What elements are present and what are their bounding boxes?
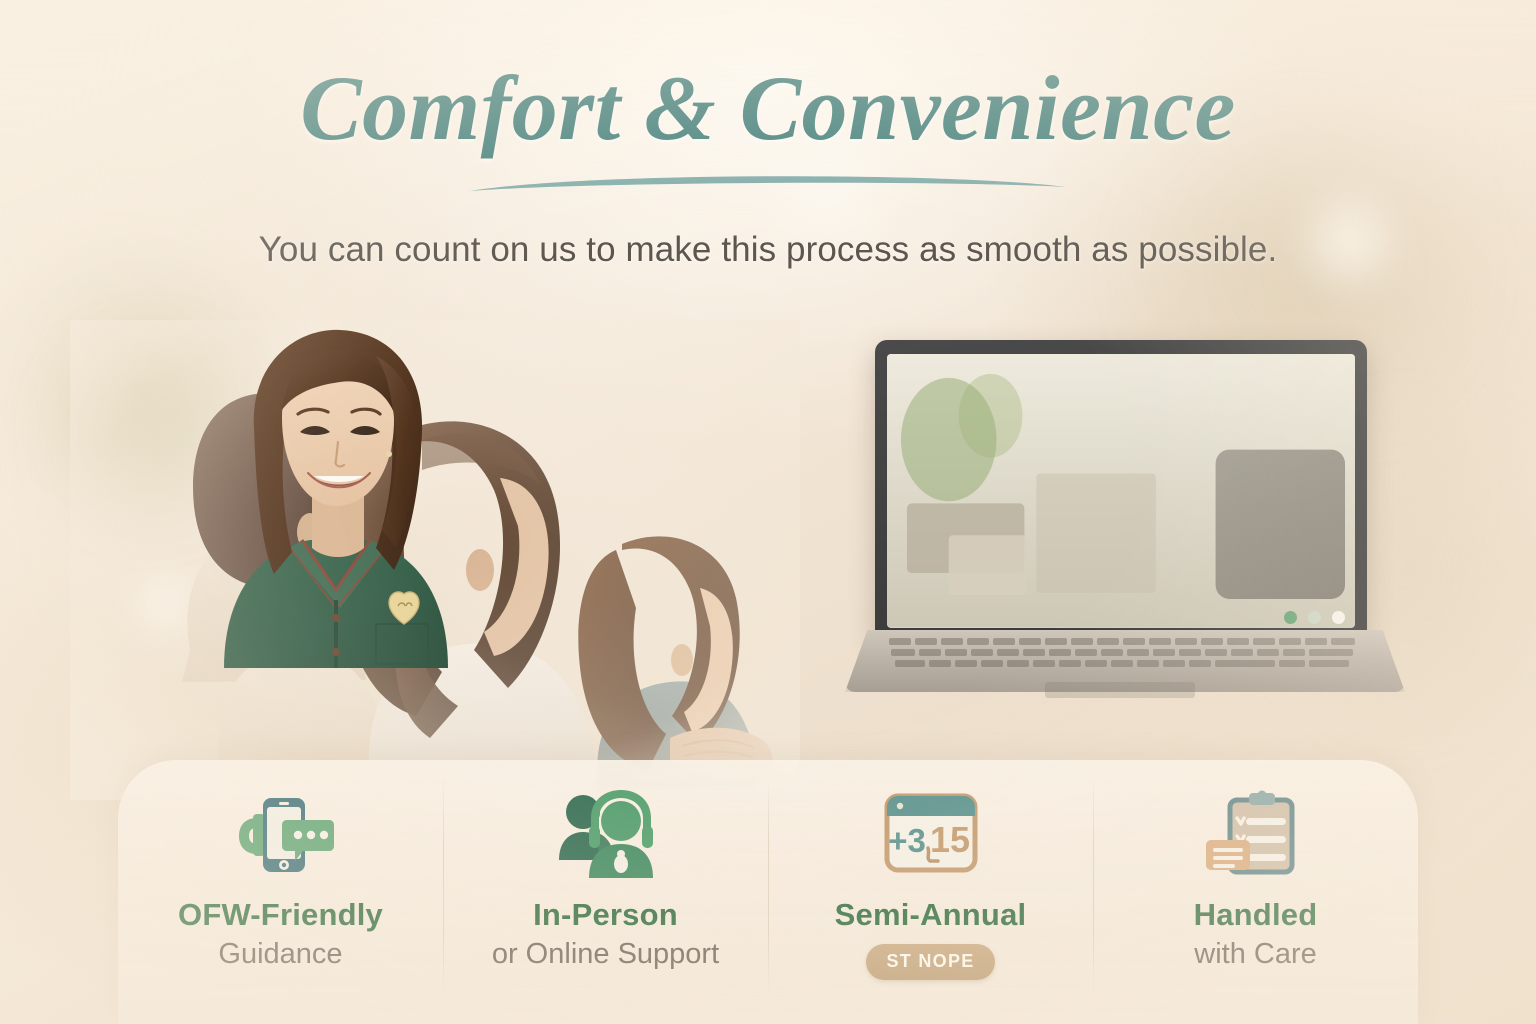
laptop-keyboard bbox=[887, 636, 1357, 676]
laptop-lid bbox=[875, 340, 1367, 640]
feature-title: Handled bbox=[1194, 898, 1318, 932]
clipboard-checklist-icon bbox=[1204, 788, 1308, 880]
page-subtitle: You can count on us to make this process… bbox=[0, 230, 1536, 270]
header: Comfort & Convenience You can count on u… bbox=[0, 62, 1536, 270]
poster-canvas: Comfort & Convenience You can count on u… bbox=[0, 0, 1536, 1024]
calendar-right-number: 15 bbox=[929, 819, 969, 860]
feature-card-semi-annual[interactable]: +3 15 Semi-Annual ST NOPE bbox=[768, 760, 1093, 1024]
laptop bbox=[845, 330, 1405, 720]
feature-card-handled-with-care[interactable]: Handled with Care bbox=[1093, 760, 1418, 1024]
hero-illustration bbox=[0, 300, 1536, 800]
feature-title: Semi-Annual bbox=[835, 898, 1027, 932]
feature-title: OFW-Friendly bbox=[178, 898, 383, 932]
status-dot-empty bbox=[1332, 611, 1345, 624]
calendar-icon: +3 15 bbox=[878, 788, 984, 880]
feature-subtitle: with Care bbox=[1194, 938, 1317, 971]
calendar-left-number: +3 bbox=[888, 822, 926, 859]
feature-title: In-Person bbox=[533, 898, 678, 932]
people-headset-icon bbox=[551, 788, 661, 880]
feature-card-in-person-online[interactable]: In-Person or Online Support bbox=[443, 760, 768, 1024]
feature-subtitle: or Online Support bbox=[492, 938, 719, 971]
laptop-trackpad bbox=[1045, 682, 1195, 698]
status-badge[interactable]: ST NOPE bbox=[866, 944, 994, 980]
agent-portrait bbox=[190, 308, 480, 668]
status-dot-idle bbox=[1308, 611, 1321, 624]
swoosh-underline-icon bbox=[468, 170, 1068, 196]
feature-panel: OFW-Friendly Guidance In-Perso bbox=[118, 760, 1418, 1024]
feature-card-ofw-friendly[interactable]: OFW-Friendly Guidance bbox=[118, 760, 443, 1024]
laptop-screen bbox=[887, 354, 1355, 628]
page-title: Comfort & Convenience bbox=[0, 62, 1536, 154]
feature-subtitle: Guidance bbox=[218, 938, 342, 971]
phone-chat-icon bbox=[225, 788, 337, 880]
video-call-background bbox=[887, 354, 1355, 627]
status-dot-active bbox=[1284, 611, 1297, 624]
screen-status-dots bbox=[1284, 611, 1345, 624]
